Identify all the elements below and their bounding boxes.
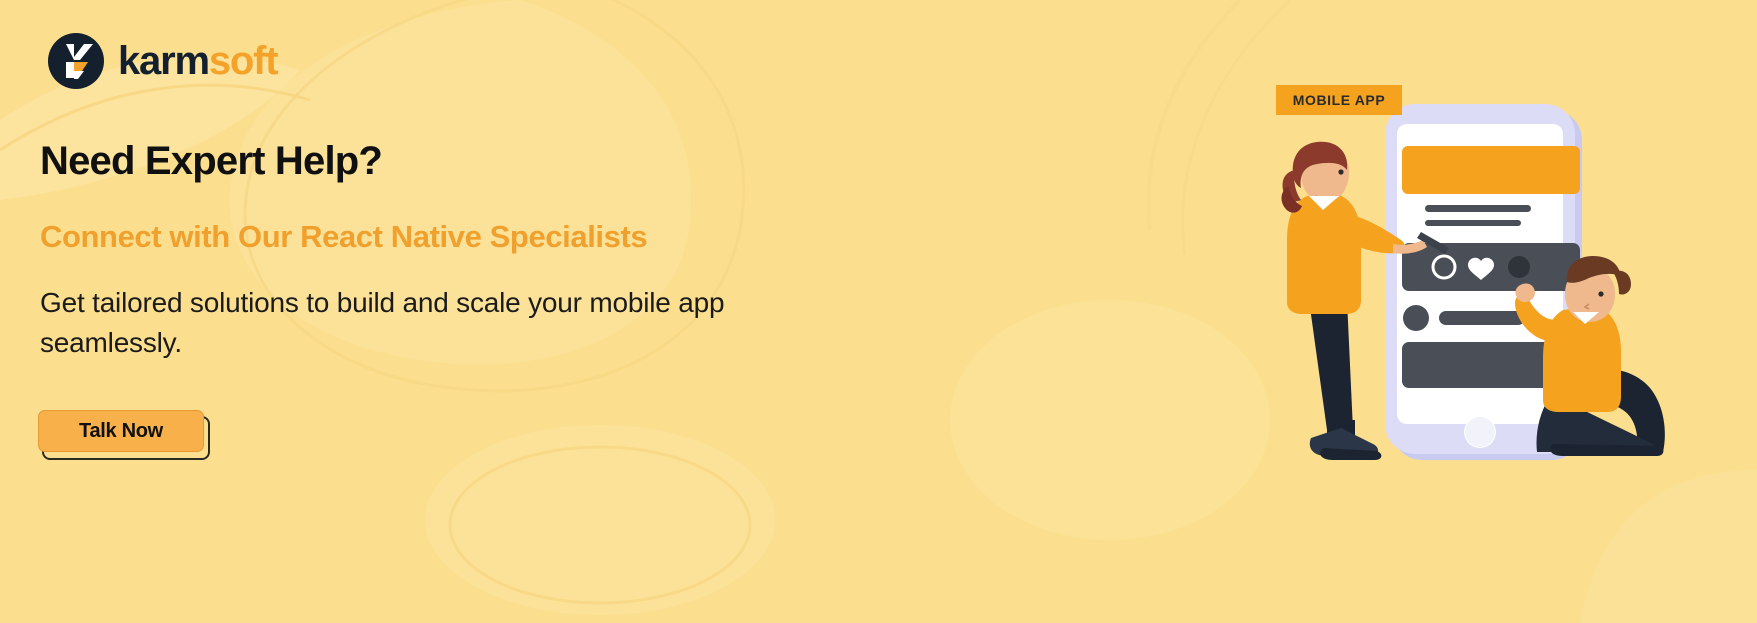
body-text: Get tailored solutions to build and scal… <box>40 283 850 363</box>
promo-banner: karmsoft Need Expert Help? Connect with … <box>0 0 1757 623</box>
subheadline: Connect with Our React Native Specialist… <box>40 218 920 255</box>
brand-name: karmsoft <box>118 41 277 81</box>
mobile-app-badge: MOBILE APP <box>1276 85 1402 115</box>
cta-container: Talk Now <box>38 410 204 452</box>
page-title: Need Expert Help? <box>40 138 920 184</box>
karmsoft-k-mark-icon <box>48 33 104 89</box>
brand-logo[interactable]: karmsoft <box>48 33 277 89</box>
talk-now-button[interactable]: Talk Now <box>38 410 204 452</box>
brand-name-karm: karm <box>118 39 209 83</box>
copy-block: Need Expert Help? Connect with Our React… <box>40 138 920 363</box>
brand-name-soft: soft <box>209 39 278 83</box>
